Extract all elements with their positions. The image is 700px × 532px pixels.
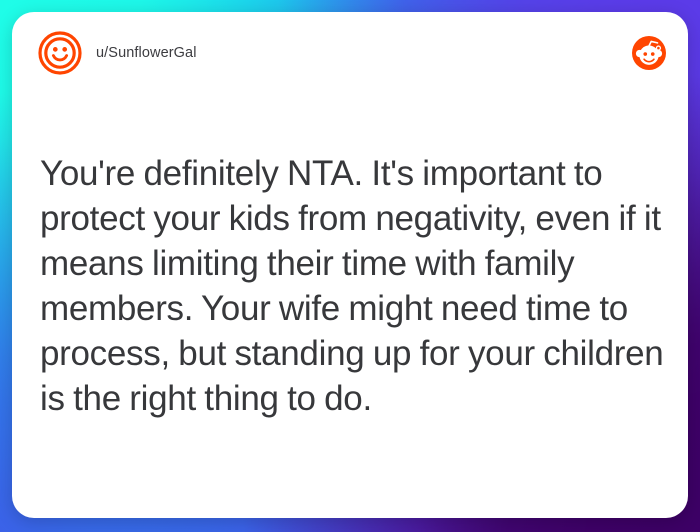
reddit-snoo-icon[interactable] [632, 36, 666, 70]
smiley-face-avatar-icon[interactable] [38, 31, 82, 75]
post-body-text: You're definitely NTA. It's important to… [40, 152, 666, 422]
username-label[interactable]: u/SunflowerGal [96, 45, 197, 61]
reddit-post-card: u/SunflowerGal You're definitely NTA. It… [12, 12, 688, 518]
post-header: u/SunflowerGal [12, 12, 688, 94]
